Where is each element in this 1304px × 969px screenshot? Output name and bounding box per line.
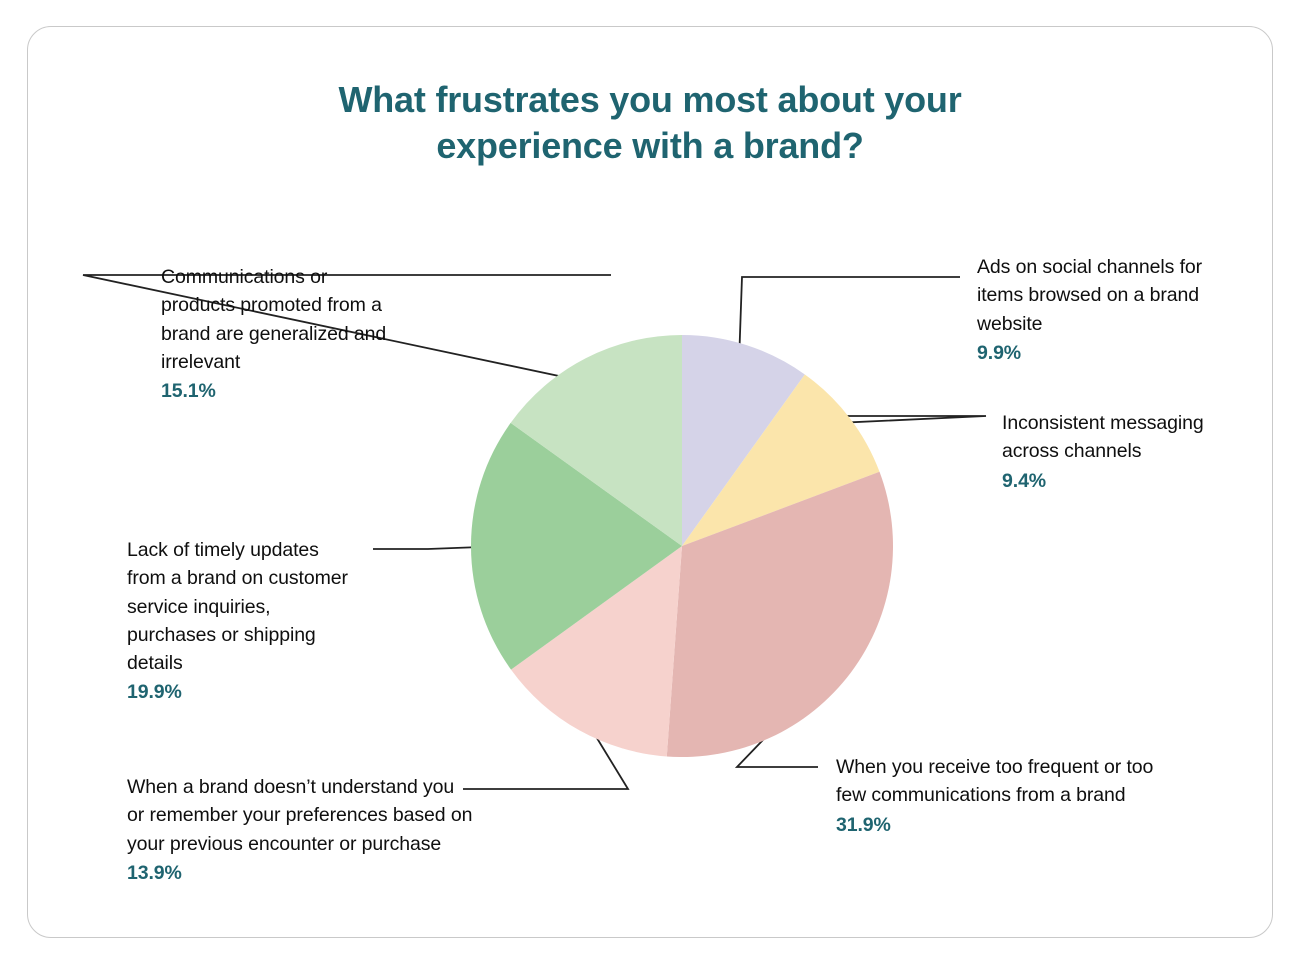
pie-chart (470, 334, 894, 758)
label-line: products promoted from a (161, 294, 382, 316)
label-line: service inquiries, (127, 596, 270, 618)
label-inconsistent-messaging: Inconsistent messaging across channels 9… (1002, 409, 1273, 495)
label-line: irrelevant (161, 351, 240, 373)
label-line: few communications from a brand (836, 784, 1126, 806)
label-generalized-irrelevant: Communications or products promoted from… (161, 263, 461, 405)
label-percent: 19.9% (127, 678, 427, 706)
label-line: purchases or shipping (127, 624, 316, 646)
page-title: What frustrates you most about your expe… (270, 77, 1030, 169)
label-percent: 31.9% (836, 811, 1256, 839)
label-brand-doesnt-understand: When a brand doesn’t understand you or r… (127, 773, 577, 887)
label-line: across channels (1002, 440, 1141, 462)
title-line-2: experience with a brand? (270, 123, 1030, 169)
label-line: Inconsistent messaging (1002, 412, 1204, 434)
label-line: brand are generalized and (161, 323, 386, 345)
title-line-1: What frustrates you most about your (270, 77, 1030, 123)
chart-card: What frustrates you most about your expe… (27, 26, 1273, 938)
label-percent: 13.9% (127, 859, 577, 887)
label-line: Ads on social channels for (977, 256, 1202, 278)
label-line: When you receive too frequent or too (836, 756, 1153, 778)
label-percent: 9.4% (1002, 467, 1273, 495)
label-ads-social-channels: Ads on social channels for items browsed… (977, 253, 1267, 367)
label-line: Lack of timely updates (127, 539, 319, 561)
label-line: website (977, 313, 1042, 335)
label-percent: 9.9% (977, 339, 1267, 367)
label-percent: 15.1% (161, 377, 461, 405)
label-communication-frequency: When you receive too frequent or too few… (836, 753, 1256, 839)
label-line: from a brand on customer (127, 567, 348, 589)
label-line: or remember your preferences based on (127, 804, 472, 826)
label-lack-timely-updates: Lack of timely updates from a brand on c… (127, 536, 427, 707)
label-line: your previous encounter or purchase (127, 833, 441, 855)
label-line: items browsed on a brand (977, 284, 1199, 306)
label-line: When a brand doesn’t understand you (127, 776, 454, 798)
label-line: details (127, 652, 183, 674)
label-line: Communications or (161, 266, 327, 288)
